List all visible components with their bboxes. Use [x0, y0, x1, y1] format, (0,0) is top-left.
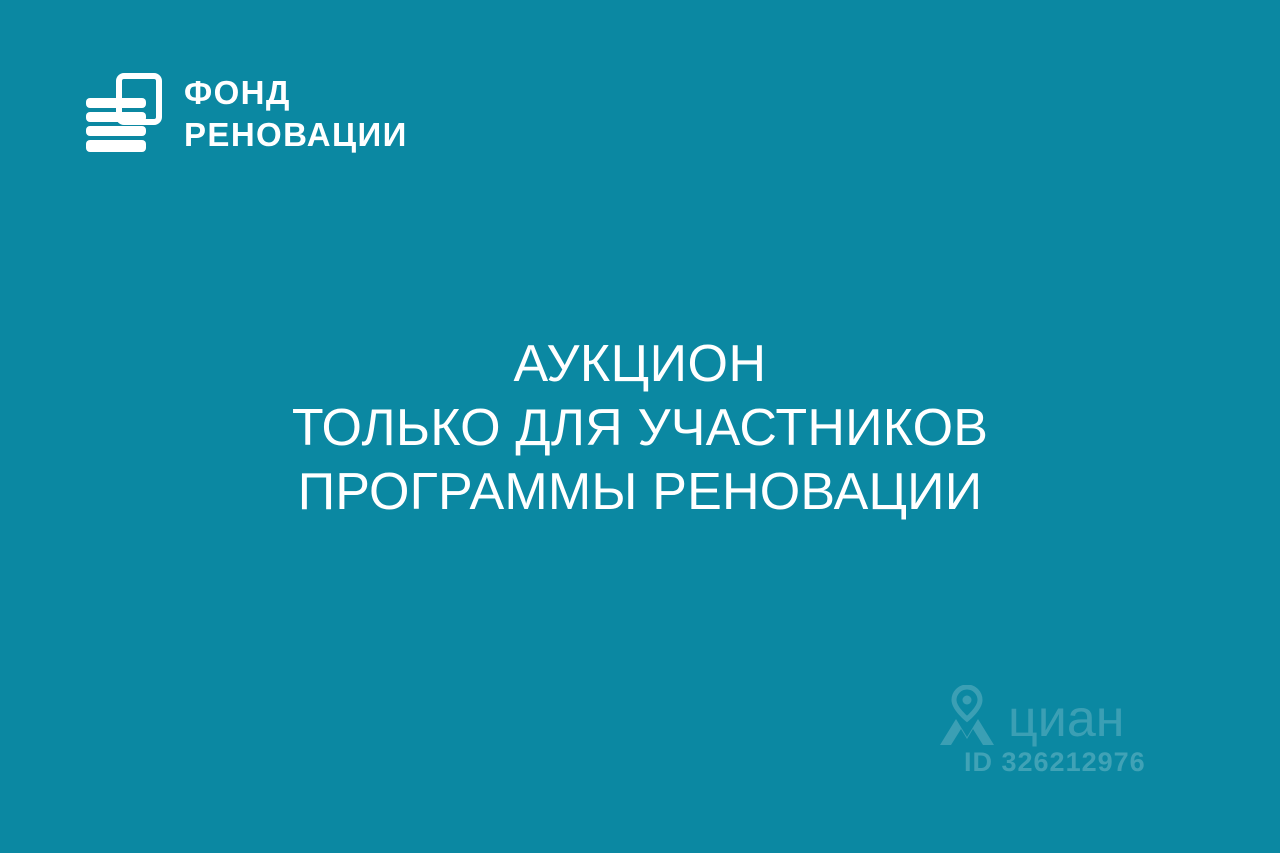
- logo-wordmark-line-2: РЕНОВАЦИИ: [184, 118, 408, 151]
- headline-line-2: ТОЛЬКО ДЛЯ УЧАСТНИКОВ: [0, 396, 1280, 460]
- headline-line-1: АУКЦИОН: [0, 332, 1280, 396]
- cian-watermark: циан ID 326212976: [936, 685, 1168, 785]
- auction-banner: ФОНД РЕНОВАЦИИ АУКЦИОН ТОЛЬКО ДЛЯ УЧАСТН…: [0, 0, 1280, 853]
- cian-brand-text: циан: [1008, 693, 1124, 745]
- cian-pin-icon: [936, 685, 998, 747]
- fond-renovacii-logo: ФОНД РЕНОВАЦИИ: [84, 70, 408, 156]
- stacked-card-icon: [84, 70, 162, 156]
- cian-listing-id: ID 326212976: [964, 747, 1146, 777]
- logo-wordmark: ФОНД РЕНОВАЦИИ: [184, 76, 408, 151]
- headline-line-3: ПРОГРАММЫ РЕНОВАЦИИ: [0, 460, 1280, 524]
- logo-wordmark-line-1: ФОНД: [184, 76, 408, 109]
- headline: АУКЦИОН ТОЛЬКО ДЛЯ УЧАСТНИКОВ ПРОГРАММЫ …: [0, 332, 1280, 524]
- cian-logo: циан: [936, 685, 1124, 747]
